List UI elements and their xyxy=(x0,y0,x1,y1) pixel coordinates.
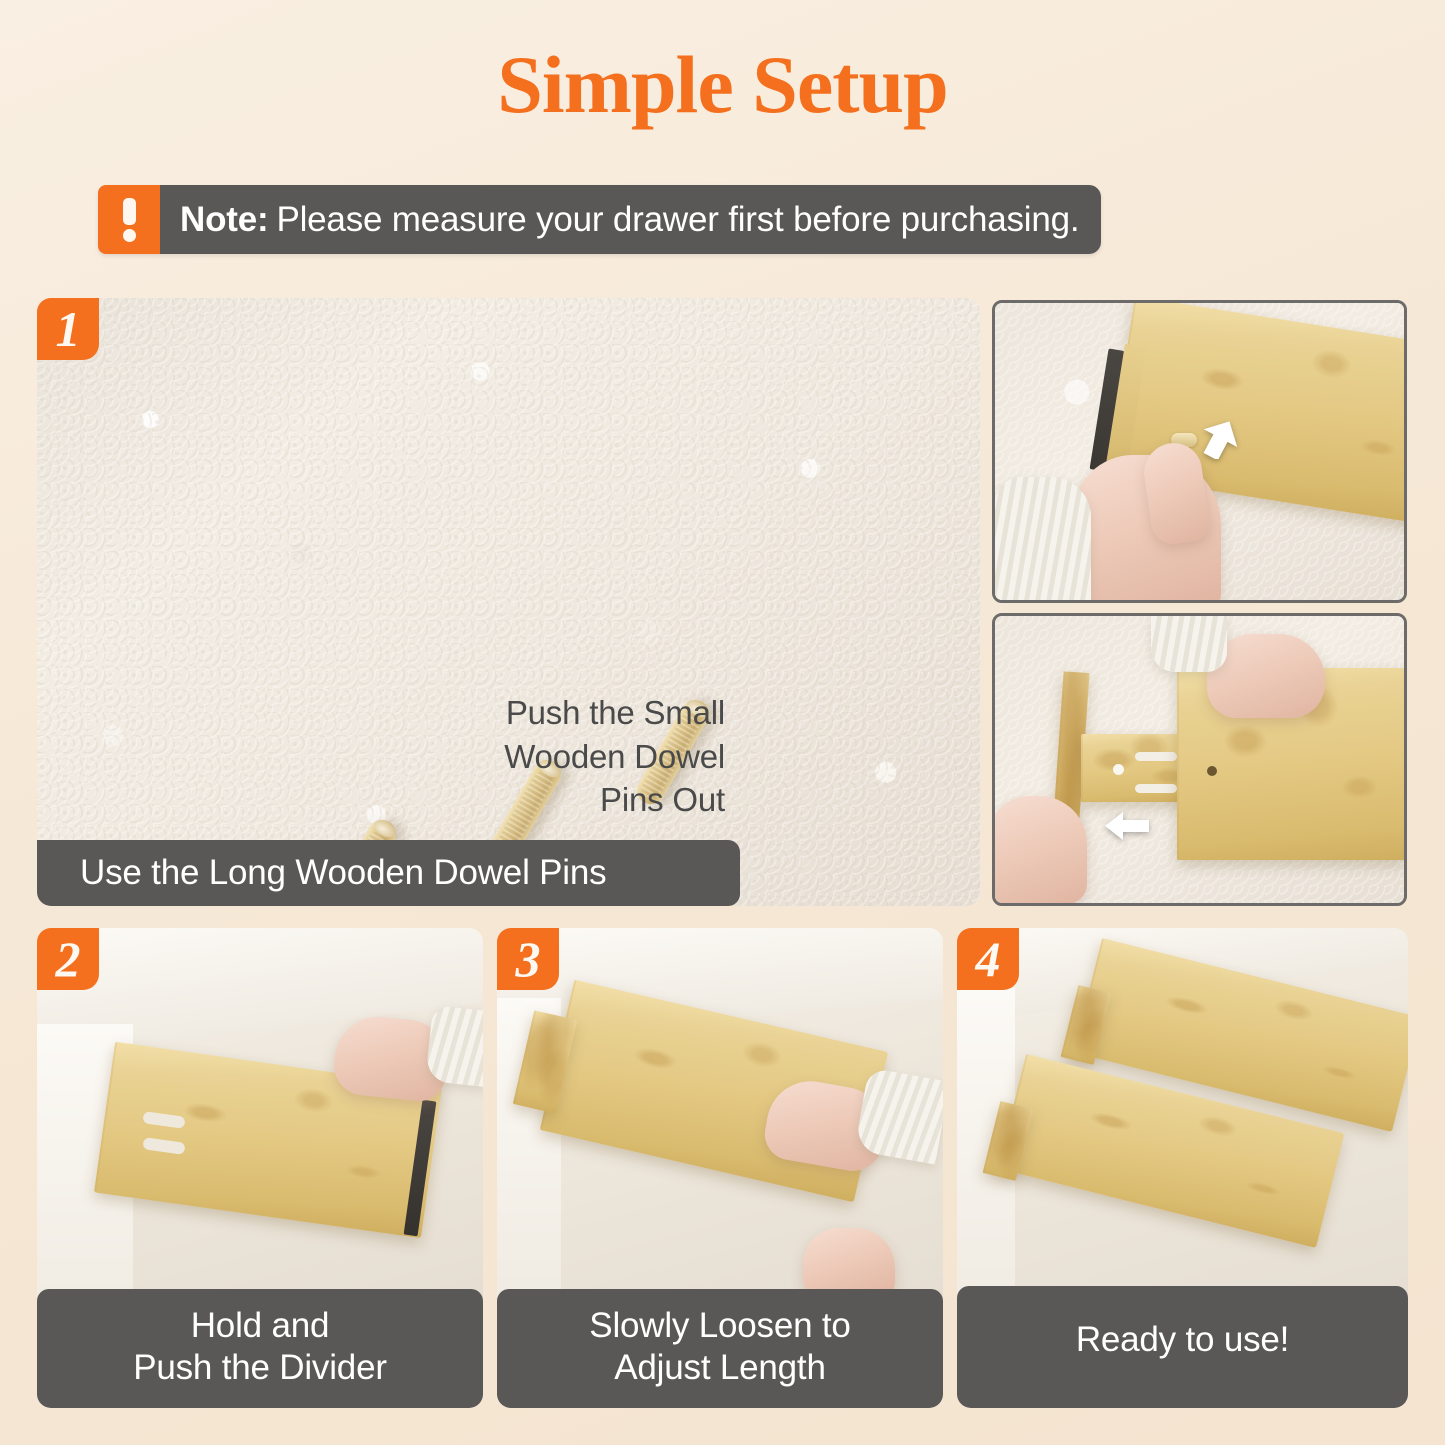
hand xyxy=(803,1228,895,1298)
screw-hole xyxy=(1113,764,1124,775)
slide-divider-inset xyxy=(992,613,1407,906)
step-2-panel: 2 Hold and Push the Divider xyxy=(37,928,483,1408)
sleeve xyxy=(1151,616,1227,672)
note-banner: Note: Please measure your drawer first b… xyxy=(98,185,1101,254)
step-2-caption: Hold and Push the Divider xyxy=(37,1289,483,1408)
arrow-up-icon xyxy=(1201,419,1239,459)
page-title: Simple Setup xyxy=(0,44,1445,126)
sleeve xyxy=(995,477,1091,603)
step-badge-4: 4 xyxy=(957,928,1019,990)
slot xyxy=(1135,784,1177,793)
exclamation-icon xyxy=(98,185,160,254)
step-1-caption: Use the Long Wooden Dowel Pins xyxy=(37,840,740,906)
step-4-caption: Ready to use! xyxy=(957,1286,1408,1408)
arrow-left-icon xyxy=(1105,812,1149,840)
note-text: Note: Please measure your drawer first b… xyxy=(160,185,1101,254)
step-3-panel: 3 Slowly Loosen to Adjust Length xyxy=(497,928,943,1408)
hand xyxy=(992,796,1087,904)
step-1-panel: Push the Small Wooden Dowel Pins Out *Th… xyxy=(37,298,980,906)
note-label: Note: xyxy=(180,200,268,240)
pin-hole xyxy=(1207,766,1217,776)
step-3-caption: Slowly Loosen to Adjust Length xyxy=(497,1289,943,1408)
note-body: Please measure your drawer first before … xyxy=(276,200,1079,240)
step-badge-3: 3 xyxy=(497,928,559,990)
step-4-panel: 4 Ready to use! xyxy=(957,928,1408,1408)
step-1-instruction-primary: Push the Small Wooden Dowel Pins Out xyxy=(455,691,725,822)
slot xyxy=(1135,752,1177,761)
step-badge-2: 2 xyxy=(37,928,99,990)
step-badge-1: 1 xyxy=(37,298,99,360)
sleeve xyxy=(425,1005,483,1087)
infographic-page: Simple Setup Note: Please measure your d… xyxy=(0,0,1445,1445)
pull-dowel-pin-inset xyxy=(992,300,1407,603)
